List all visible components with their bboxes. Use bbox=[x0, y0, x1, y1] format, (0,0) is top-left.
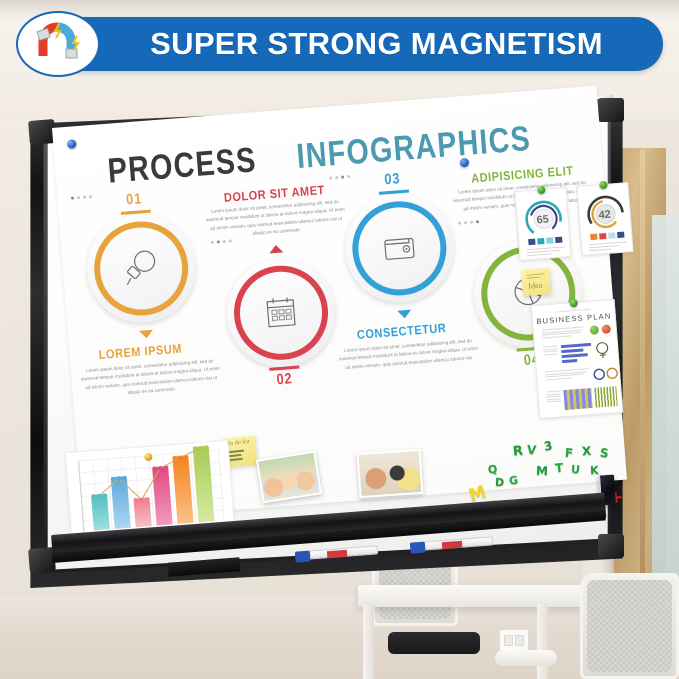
wall-outlet bbox=[499, 629, 529, 651]
partition-strip bbox=[640, 150, 645, 595]
bp-bar-4 bbox=[562, 359, 577, 363]
banner-pill: SUPER STRONG MAGNETISM bbox=[54, 17, 663, 71]
frame-corner-top-right bbox=[598, 98, 624, 122]
step-01-number: 01 bbox=[126, 190, 143, 208]
chair-mesh-right bbox=[587, 580, 672, 672]
family-play-photo[interactable] bbox=[357, 449, 424, 498]
letter-green-U[interactable]: U bbox=[570, 463, 580, 477]
family-birthday-photo[interactable] bbox=[256, 451, 322, 504]
bp-donut-icons bbox=[593, 366, 620, 382]
letter-green-D[interactable]: D bbox=[495, 476, 505, 489]
floor bbox=[0, 596, 679, 679]
bp-paragraph-1 bbox=[542, 326, 585, 340]
step-03-number: 03 bbox=[384, 170, 401, 188]
chair-armrest bbox=[495, 650, 557, 666]
desk-leg-right bbox=[537, 604, 548, 679]
business-plan-poster[interactable]: BUSINESS PLAN bbox=[531, 299, 623, 419]
step-03-arrow bbox=[397, 310, 412, 319]
bp-area-chart bbox=[594, 386, 617, 408]
letter-green-M[interactable]: M bbox=[536, 464, 548, 478]
letter-green-Q[interactable]: Q bbox=[487, 462, 498, 476]
bp-paragraph-2 bbox=[545, 368, 590, 382]
bp-bar-2 bbox=[561, 348, 583, 353]
frame-corner-bottom-right bbox=[598, 534, 624, 558]
bp-target-icon bbox=[594, 340, 611, 361]
photo-image-2 bbox=[359, 451, 422, 496]
calendar-icon bbox=[258, 290, 303, 335]
wallet-icon bbox=[377, 226, 422, 271]
idea-note-lines bbox=[526, 273, 544, 279]
magnifier-icon bbox=[119, 246, 164, 291]
step-02-number: 02 bbox=[276, 370, 293, 388]
bp-labels-left bbox=[543, 346, 558, 357]
letter-green-V[interactable]: V bbox=[527, 443, 537, 458]
desk-leg-left bbox=[363, 604, 374, 679]
promo-banner: SUPER STRONG MAGNETISM bbox=[16, 11, 663, 79]
bp-bar-1 bbox=[561, 343, 591, 348]
letter-green-G[interactable]: G bbox=[508, 474, 518, 488]
horseshoe-magnet-icon bbox=[31, 22, 85, 66]
letter-green-F[interactable]: F bbox=[564, 446, 573, 461]
banner-badge bbox=[16, 11, 100, 77]
todo-note-text: To do list bbox=[227, 439, 250, 447]
gauge-caption-1 bbox=[527, 246, 566, 258]
gauge-swatches-2 bbox=[590, 232, 624, 241]
gauge-card-65[interactable]: 65 bbox=[514, 187, 571, 261]
letter-green-S[interactable]: S bbox=[599, 446, 609, 461]
letter-green-R[interactable]: R bbox=[512, 444, 524, 460]
gauge-value-65: 65 bbox=[536, 214, 549, 227]
bp-dot-red bbox=[601, 324, 611, 334]
business-plan-title: BUSINESS PLAN bbox=[533, 311, 615, 326]
magnet-green-business-plan[interactable] bbox=[569, 299, 578, 308]
bp-bar-3 bbox=[562, 353, 588, 358]
bp-rule-top bbox=[558, 309, 590, 312]
gauge-value-42: 42 bbox=[598, 209, 611, 222]
bp-table bbox=[546, 390, 561, 404]
bp-dot-green bbox=[590, 325, 600, 335]
glass-partition bbox=[652, 215, 679, 605]
idea-note-text: Idea bbox=[528, 281, 542, 291]
todo-note-lines bbox=[228, 449, 249, 461]
letter-green-T[interactable]: T bbox=[554, 461, 564, 476]
letter-green-X[interactable]: X bbox=[582, 444, 592, 459]
marker-cap-2 bbox=[410, 542, 426, 554]
gauge-caption-2 bbox=[589, 241, 628, 253]
magnet-green-gauge-2[interactable] bbox=[599, 181, 608, 190]
step-01-arrow bbox=[139, 330, 154, 339]
magnetic-whiteboard[interactable]: PROCESS INFOGRAPHICS 01 LOREM IPSUM Lore… bbox=[28, 98, 625, 590]
idea-sticky-note[interactable]: Idea bbox=[521, 268, 551, 296]
step-02-arrow bbox=[269, 244, 284, 253]
gauge-swatches-1 bbox=[528, 237, 562, 246]
magnet-green-gauge-1[interactable] bbox=[537, 186, 546, 195]
banner-headline: SUPER STRONG MAGNETISM bbox=[114, 26, 603, 62]
chair-seat bbox=[388, 632, 480, 654]
photo-image-1 bbox=[258, 453, 320, 501]
gauge-card-42[interactable]: 42 bbox=[576, 182, 633, 256]
marker-cap-1 bbox=[295, 551, 311, 563]
bp-heatmap bbox=[563, 388, 592, 410]
